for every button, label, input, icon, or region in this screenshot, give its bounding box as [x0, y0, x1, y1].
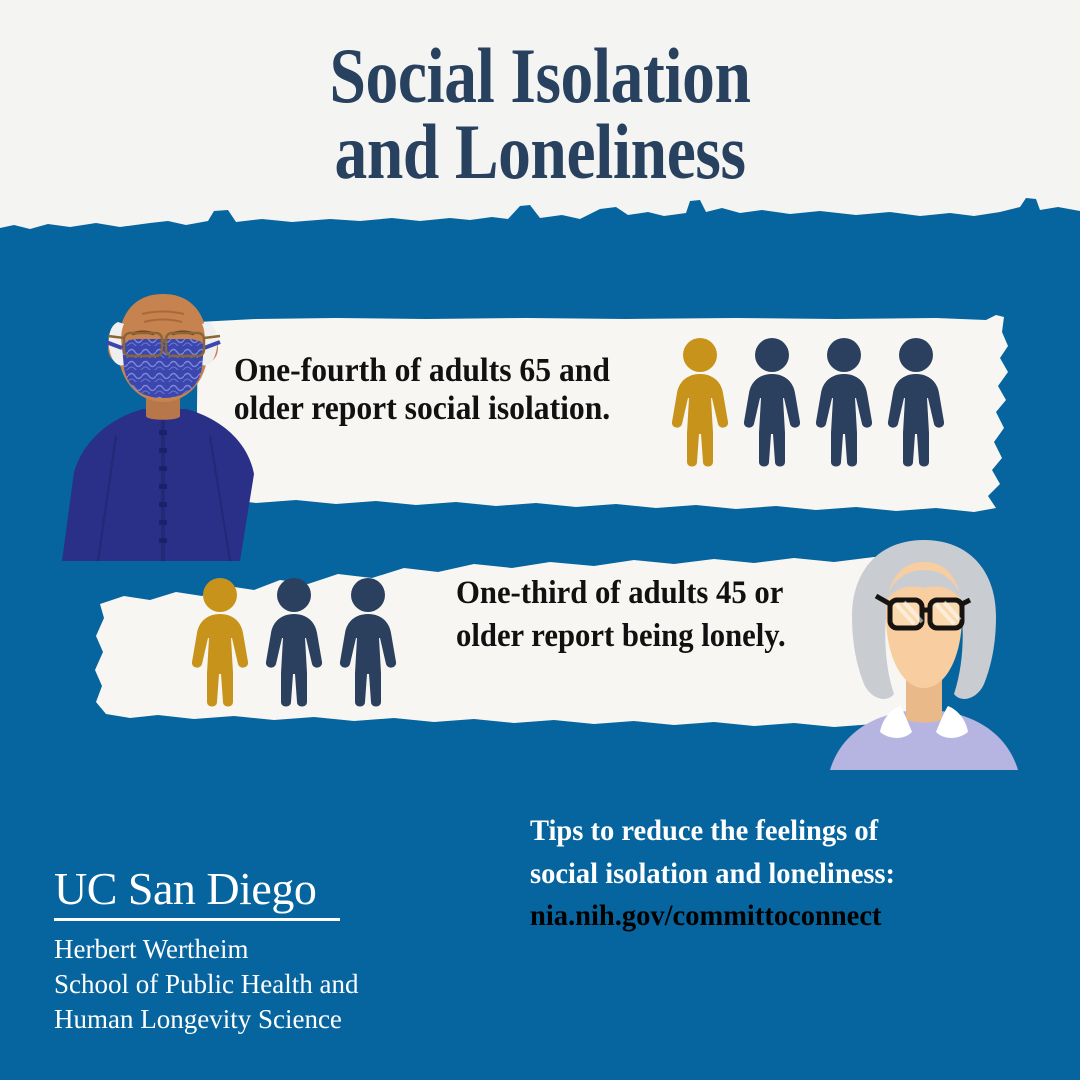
man-body-group	[62, 294, 254, 561]
figure-person-navy-1	[744, 338, 800, 467]
tips-line-2: social isolation and loneliness:	[530, 853, 1024, 896]
figure-person-gold	[192, 578, 248, 707]
page-title: Social Isolation and Loneliness	[86, 38, 993, 191]
infographic-poster: Social Isolation and Loneliness One-four…	[0, 0, 1080, 1080]
logo-school-line-1: Herbert Wertheim	[54, 932, 358, 967]
illustration-older-woman	[808, 538, 1040, 770]
stat-2-figure-row	[188, 578, 408, 708]
title-line-1: Social Isolation	[329, 32, 750, 119]
figure-person-gold	[672, 338, 728, 467]
stat-1-figure-row	[668, 338, 958, 468]
figure-person-navy-2	[340, 578, 396, 707]
logo-underline-rule	[54, 918, 340, 921]
figure-person-navy-2	[816, 338, 872, 467]
figure-person-navy-3	[888, 338, 944, 467]
torn-paper-edge-top	[0, 198, 1080, 268]
figure-person-navy-1	[266, 578, 322, 707]
title-line-2: and Loneliness	[86, 114, 993, 190]
tips-url[interactable]: nia.nih.gov/committoconnect	[530, 895, 1024, 938]
tips-block: Tips to reduce the feelings of social is…	[530, 810, 1024, 938]
woman-group	[830, 540, 1018, 770]
ucsd-logo: UC San Diego Herbert Wertheim School of …	[54, 866, 358, 1037]
tips-line-1: Tips to reduce the feelings of	[530, 810, 1024, 853]
man-shirt	[62, 409, 254, 561]
logo-wordmark: UC San Diego	[54, 866, 358, 912]
logo-school-name: Herbert Wertheim School of Public Health…	[54, 932, 358, 1037]
illustration-masked-older-man	[58, 286, 308, 561]
stat-2-text: One-third of adults 45 or older report b…	[456, 572, 791, 658]
logo-school-line-3: Human Longevity Science	[54, 1002, 358, 1037]
logo-school-line-2: School of Public Health and	[54, 967, 358, 1002]
